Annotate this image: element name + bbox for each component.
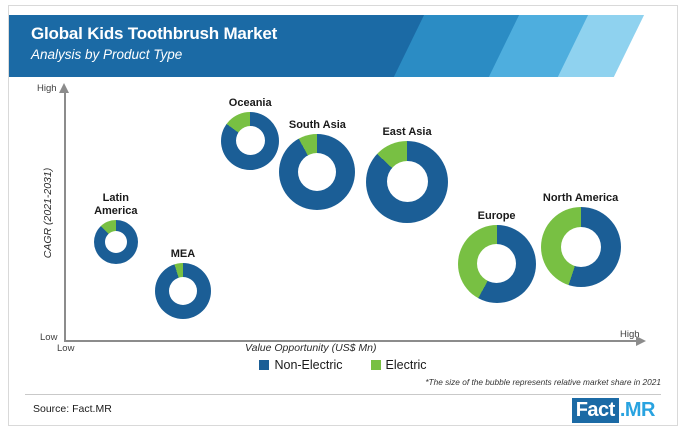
bubble-label: MEA <box>118 248 248 261</box>
x-axis-high-label: High <box>620 329 640 340</box>
logo-suffix: .MR <box>620 399 655 421</box>
bubble-north-america[interactable]: North America <box>541 207 621 287</box>
bubble-mea[interactable]: MEA <box>155 263 211 319</box>
y-axis-low-label: Low <box>40 332 57 343</box>
legend-item[interactable]: Non-Electric <box>259 358 342 372</box>
header-banner: Global Kids Toothbrush Market Analysis b… <box>9 15 677 77</box>
plot-area: High Low Low High CAGR (2021-2031) Value… <box>9 77 677 354</box>
bubble-label-line: America <box>51 205 181 218</box>
legend-item-label: Electric <box>386 358 427 372</box>
chart-card: Global Kids Toothbrush Market Analysis b… <box>8 5 678 426</box>
footer-divider <box>25 394 661 395</box>
bubble-label-line: East Asia <box>342 126 472 139</box>
bubble-south-asia[interactable]: South Asia <box>279 134 355 210</box>
legend-item-label: Non-Electric <box>274 358 342 372</box>
bubble-label-line: Latin <box>51 192 181 205</box>
bubble-label: LatinAmerica <box>51 192 181 218</box>
donut-hole <box>387 161 428 202</box>
y-axis-high-label: High <box>37 83 57 94</box>
page-title: Global Kids Toothbrush Market <box>31 23 277 44</box>
bubble-label-line: MEA <box>118 248 248 261</box>
legend-swatch-icon <box>371 360 381 370</box>
x-axis-low-label: Low <box>57 343 74 354</box>
legend-item[interactable]: Electric <box>371 358 427 372</box>
x-axis-title: Value Opportunity (US$ Mn) <box>245 342 377 354</box>
logo-mark: Fact <box>572 398 619 423</box>
chart-footnote: *The size of the bubble represents relat… <box>425 377 661 387</box>
bubble-label-line: Oceania <box>185 97 315 110</box>
bubble-europe[interactable]: Europe <box>458 225 536 303</box>
bubble-label: North America <box>516 192 646 205</box>
legend-swatch-icon <box>259 360 269 370</box>
page-subtitle: Analysis by Product Type <box>31 45 277 64</box>
source-label: Source: Fact.MR <box>33 403 112 415</box>
bubble-label: Oceania <box>185 97 315 110</box>
bubble-label: East Asia <box>342 126 472 139</box>
donut-hole <box>561 227 601 267</box>
factmr-logo[interactable]: Fact.MR <box>572 399 655 422</box>
y-axis-arrow-icon <box>59 83 69 93</box>
donut-hole <box>169 277 197 305</box>
header-text-group: Global Kids Toothbrush Market Analysis b… <box>31 23 277 64</box>
bubble-label-line: North America <box>516 192 646 205</box>
chart-legend: Non-ElectricElectric <box>9 356 677 374</box>
